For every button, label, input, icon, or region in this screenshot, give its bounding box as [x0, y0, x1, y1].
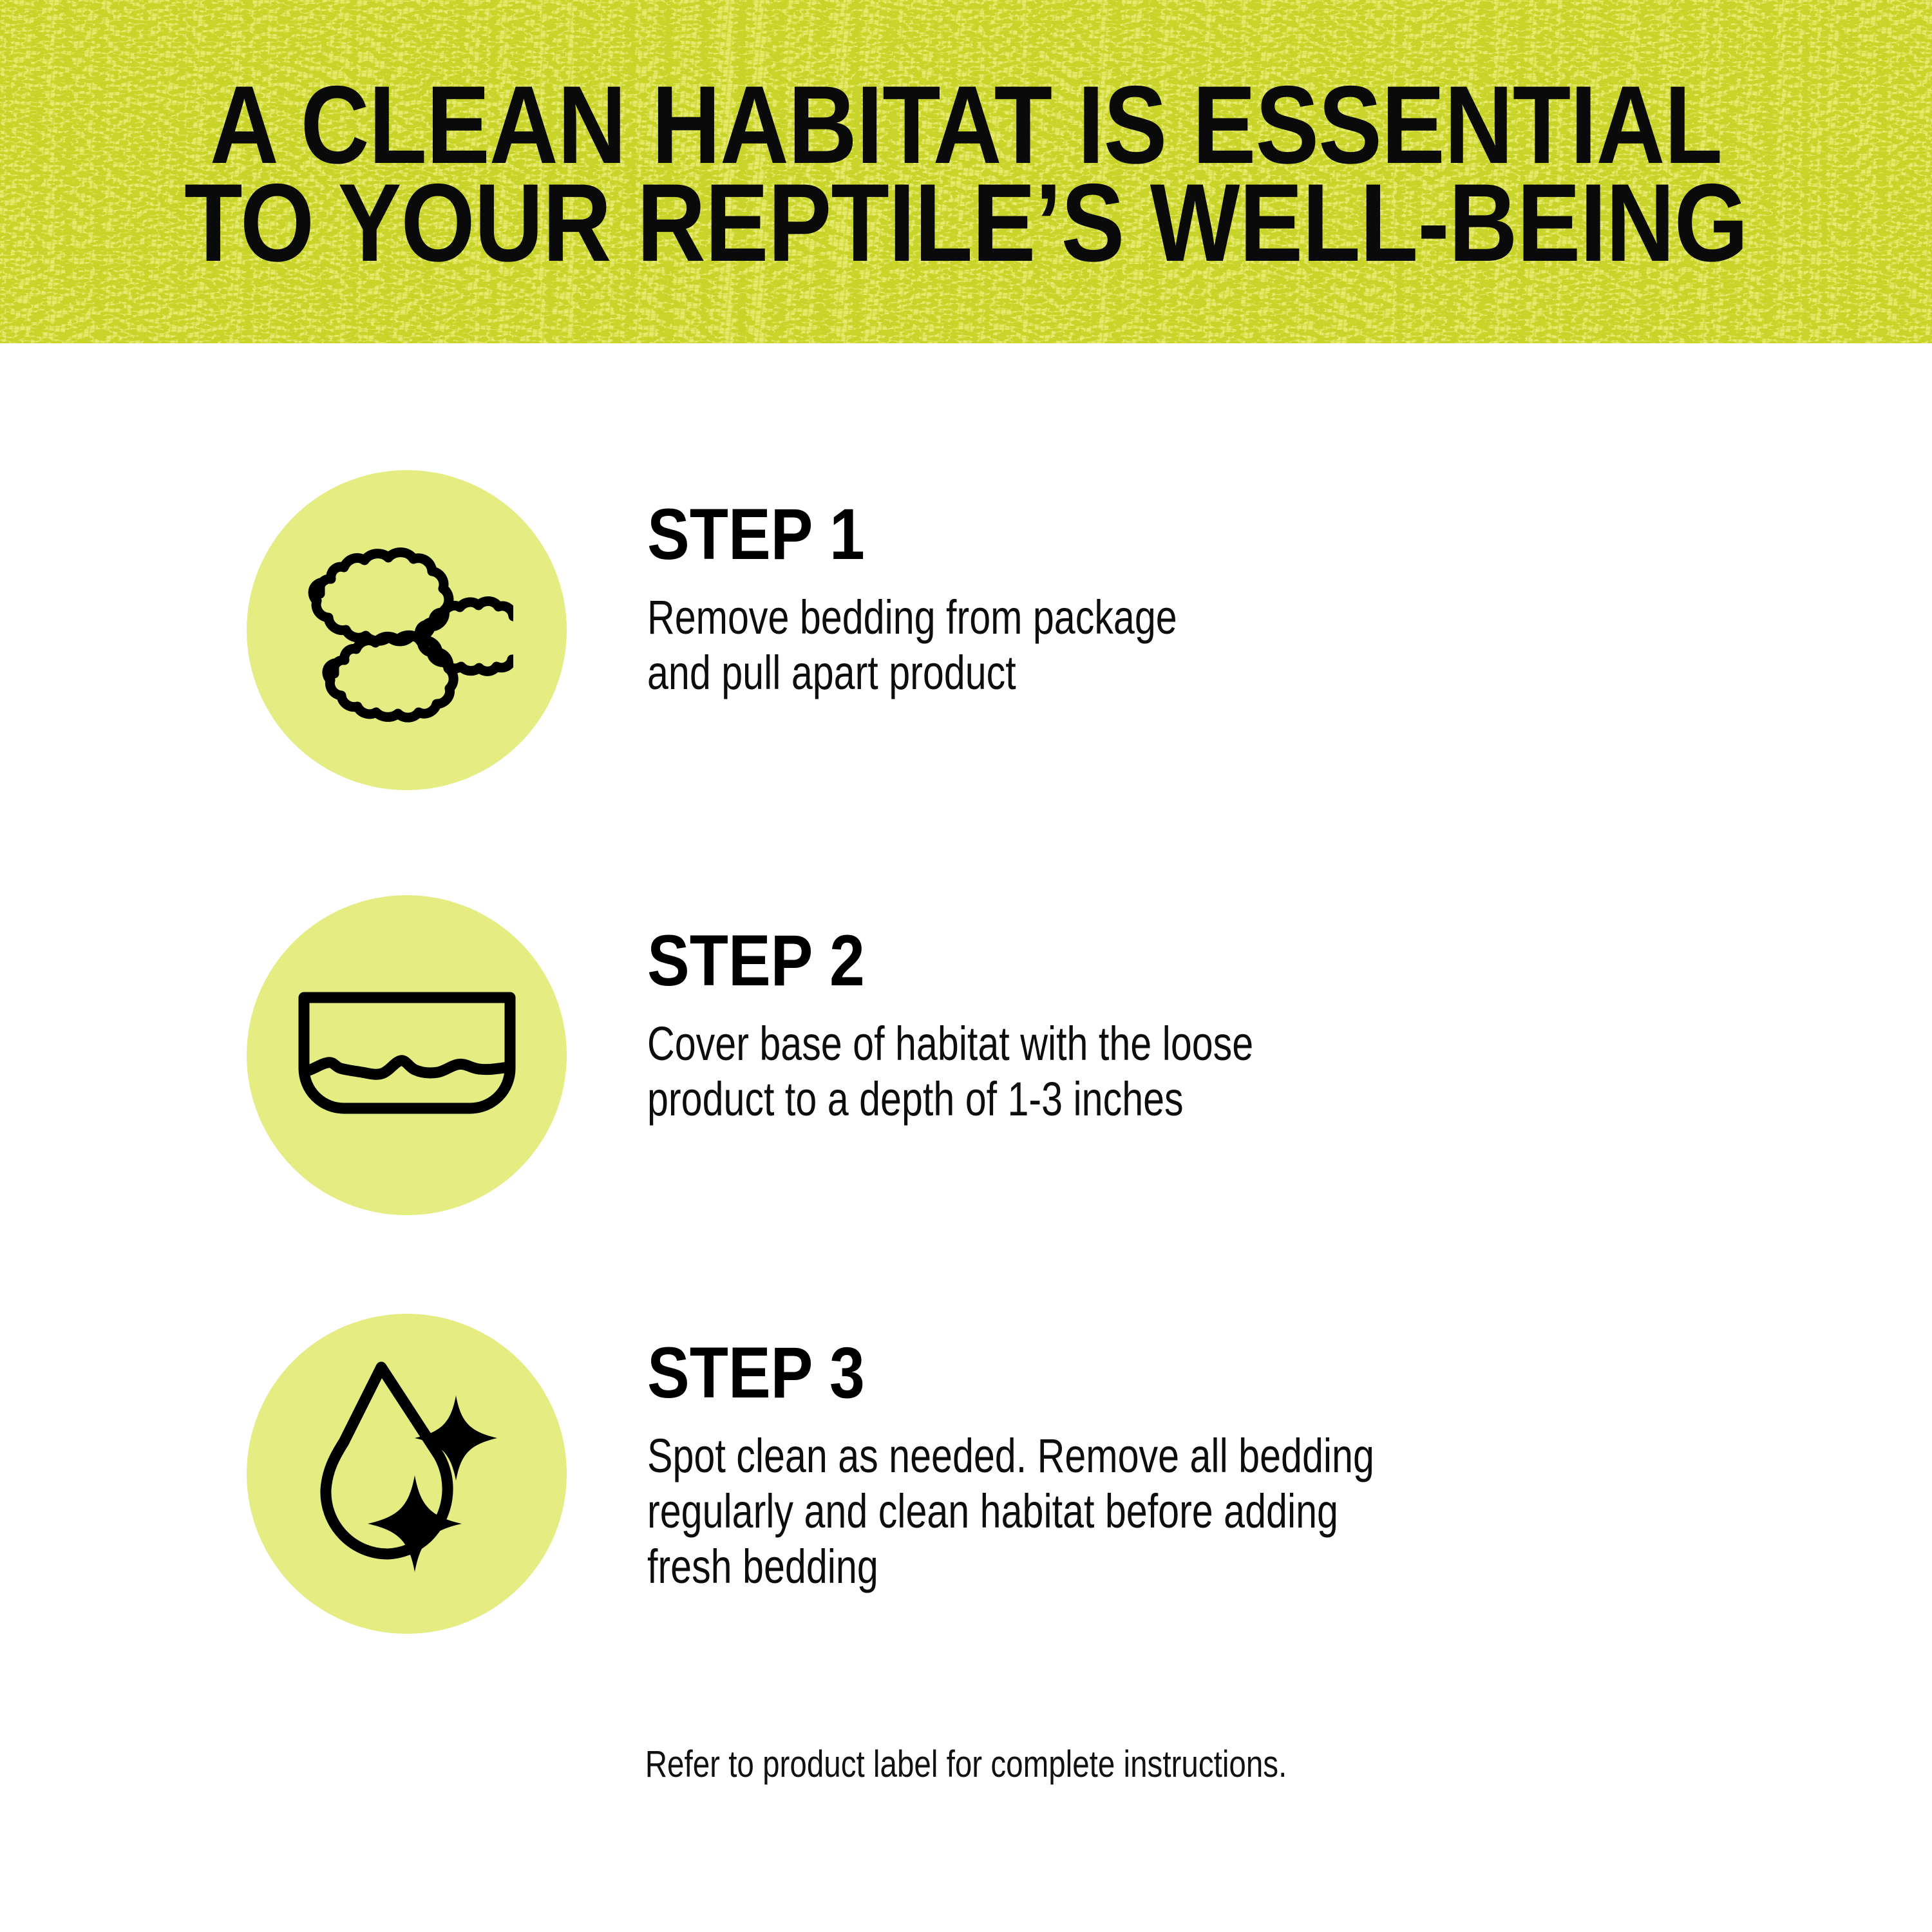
- step-1-description-line-2: and pull apart product: [647, 645, 1626, 701]
- page-title-line-1: A CLEAN HABITAT IS ESSENTIAL: [135, 76, 1797, 174]
- step-1-text-block: STEP 1 Remove bedding from package and p…: [647, 501, 1871, 701]
- step-2-description-line-2: product to a depth of 1-3 inches: [647, 1072, 1626, 1127]
- step-3-description-line-1: Spot clean as needed. Remove all bedding: [647, 1428, 1626, 1484]
- step-1-icon-circle: [247, 470, 567, 790]
- footer-disclaimer: Refer to product label for complete inst…: [174, 1742, 1758, 1787]
- header-banner: A CLEAN HABITAT IS ESSENTIAL TO YOUR REP…: [0, 0, 1932, 343]
- step-3-description-line-3: fresh bedding: [647, 1539, 1626, 1595]
- step-2-icon-circle: [247, 895, 567, 1215]
- step-1-description-line-1: Remove bedding from package: [647, 590, 1626, 645]
- step-3-text-block: STEP 3 Spot clean as needed. Remove all …: [647, 1340, 1871, 1595]
- step-item-2: STEP 2 Cover base of habitat with the lo…: [0, 895, 1932, 1217]
- step-2-title: STEP 2: [647, 927, 1724, 994]
- page-title: A CLEAN HABITAT IS ESSENTIAL TO YOUR REP…: [135, 76, 1797, 272]
- step-1-description: Remove bedding from package and pull apa…: [647, 590, 1626, 701]
- page-title-line-2: TO YOUR REPTILE’S WELL-BEING: [135, 174, 1797, 272]
- step-3-description-line-2: regularly and clean habitat before addin…: [647, 1484, 1626, 1539]
- step-3-icon-circle: [247, 1314, 567, 1634]
- step-2-description-line-1: Cover base of habitat with the loose: [647, 1016, 1626, 1072]
- step-item-3: STEP 3 Spot clean as needed. Remove all …: [0, 1314, 1932, 1636]
- step-2-text-block: STEP 2 Cover base of habitat with the lo…: [647, 927, 1871, 1127]
- step-item-1: STEP 1 Remove bedding from package and p…: [0, 470, 1932, 792]
- step-1-title: STEP 1: [647, 501, 1724, 568]
- step-2-description: Cover base of habitat with the loose pro…: [647, 1016, 1626, 1127]
- step-3-title: STEP 3: [647, 1340, 1724, 1406]
- step-3-description: Spot clean as needed. Remove all bedding…: [647, 1428, 1626, 1595]
